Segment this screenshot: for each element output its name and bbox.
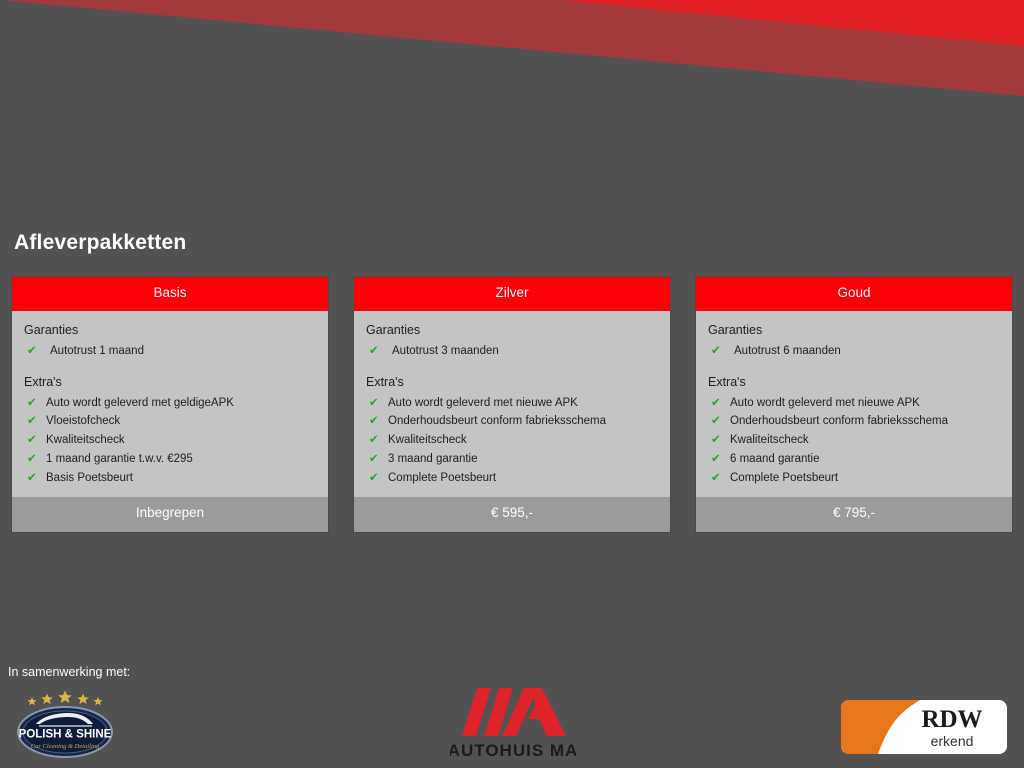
check-icon: ✔ bbox=[24, 395, 46, 413]
check-icon: ✔ bbox=[708, 395, 730, 413]
list-item: ✔ Auto wordt geleverd met geldigeAPK bbox=[24, 395, 316, 414]
check-icon: ✔ bbox=[708, 343, 732, 361]
list-item: ✔ Basis Poetsbeurt bbox=[24, 470, 316, 489]
stars-icon bbox=[28, 691, 103, 706]
logo-rdw-erkend: RDW erkend bbox=[840, 699, 1008, 755]
list-item: ✔ Autotrust 3 maanden bbox=[366, 343, 658, 362]
check-icon: ✔ bbox=[24, 451, 46, 469]
check-icon: ✔ bbox=[366, 413, 388, 431]
list-item-label: Complete Poetsbeurt bbox=[730, 470, 838, 488]
partners-label: In samenwerking met: bbox=[8, 665, 130, 679]
list-item-label: Autotrust 1 maand bbox=[48, 343, 144, 361]
package-card-basis[interactable]: Basis Garanties ✔ Autotrust 1 maand Extr… bbox=[12, 277, 328, 532]
extras-heading: Extra's bbox=[708, 375, 1000, 389]
package-card-goud[interactable]: Goud Garanties ✔ Autotrust 6 maanden Ext… bbox=[696, 277, 1012, 532]
list-item-label: Onderhoudsbeurt conform fabrieksschema bbox=[388, 413, 606, 431]
check-icon: ✔ bbox=[366, 395, 388, 413]
list-item: ✔ Auto wordt geleverd met nieuwe APK bbox=[366, 395, 658, 414]
autohuis-ma-mark: AUTOHUIS MA bbox=[450, 678, 576, 762]
list-item: ✔ 6 maand garantie bbox=[708, 451, 1000, 470]
list-item-label: Auto wordt geleverd met geldigeAPK bbox=[46, 395, 234, 413]
package-card-title: Goud bbox=[696, 277, 1012, 311]
list-item: ✔ Complete Poetsbeurt bbox=[366, 470, 658, 489]
logo-wordmark: POLISH & SHINE bbox=[19, 729, 112, 741]
list-item: ✔ Complete Poetsbeurt bbox=[708, 470, 1000, 489]
rdw-erkend-mark: RDW erkend bbox=[840, 699, 1008, 755]
list-item: ✔ Vloeistofcheck bbox=[24, 413, 316, 432]
package-price: Inbegrepen bbox=[12, 497, 328, 532]
check-icon: ✔ bbox=[24, 432, 46, 450]
list-item: ✔ Auto wordt geleverd met nieuwe APK bbox=[708, 395, 1000, 414]
list-item: ✔ Autotrust 6 maanden bbox=[708, 343, 1000, 362]
list-item-label: Auto wordt geleverd met nieuwe APK bbox=[730, 395, 920, 413]
list-item-label: Auto wordt geleverd met nieuwe APK bbox=[388, 395, 578, 413]
top-diagonal-banner bbox=[0, 0, 1024, 120]
extras-list: ✔ Auto wordt geleverd met nieuwe APK ✔ O… bbox=[708, 395, 1000, 489]
check-icon: ✔ bbox=[366, 451, 388, 469]
logo-autohuis-ma: AUTOHUIS MA bbox=[450, 678, 576, 762]
check-icon: ✔ bbox=[708, 470, 730, 488]
check-icon: ✔ bbox=[24, 470, 46, 488]
list-item-label: 6 maand garantie bbox=[730, 451, 820, 469]
package-card-title: Basis bbox=[12, 277, 328, 311]
list-item-label: Kwaliteitscheck bbox=[388, 432, 467, 450]
package-cards-row: Basis Garanties ✔ Autotrust 1 maand Extr… bbox=[12, 277, 1012, 532]
list-item-label: 3 maand garantie bbox=[388, 451, 478, 469]
list-item-label: 1 maand garantie t.w.v. €295 bbox=[46, 451, 193, 469]
package-card-title: Zilver bbox=[354, 277, 670, 311]
list-item-label: Kwaliteitscheck bbox=[46, 432, 125, 450]
guarantees-heading: Garanties bbox=[708, 323, 1000, 337]
list-item: ✔ Onderhoudsbeurt conform fabrieksschema bbox=[708, 413, 1000, 432]
list-item-label: Autotrust 3 maanden bbox=[390, 343, 499, 361]
polish-and-shine-mark: POLISH & SHINE Car Cleaning & Detailing bbox=[16, 686, 114, 760]
check-icon: ✔ bbox=[366, 432, 388, 450]
list-item: ✔ Kwaliteitscheck bbox=[24, 432, 316, 451]
extras-list: ✔ Auto wordt geleverd met geldigeAPK ✔ V… bbox=[24, 395, 316, 489]
package-card-body: Garanties ✔ Autotrust 1 maand Extra's ✔ … bbox=[12, 311, 328, 497]
check-icon: ✔ bbox=[708, 432, 730, 450]
ma-monogram-icon bbox=[462, 688, 566, 736]
logo-polish-and-shine: POLISH & SHINE Car Cleaning & Detailing bbox=[16, 686, 114, 760]
list-item-label: Complete Poetsbeurt bbox=[388, 470, 496, 488]
guarantees-list: ✔ Autotrust 1 maand bbox=[24, 343, 316, 362]
check-icon: ✔ bbox=[366, 343, 390, 361]
package-price: € 595,- bbox=[354, 497, 670, 532]
guarantees-heading: Garanties bbox=[24, 323, 316, 337]
package-card-body: Garanties ✔ Autotrust 6 maanden Extra's … bbox=[696, 311, 1012, 497]
check-icon: ✔ bbox=[366, 470, 388, 488]
rdw-wordmark: RDW bbox=[921, 706, 982, 733]
check-icon: ✔ bbox=[708, 451, 730, 469]
list-item: ✔ Kwaliteitscheck bbox=[708, 432, 1000, 451]
list-item-label: Autotrust 6 maanden bbox=[732, 343, 841, 361]
package-card-zilver[interactable]: Zilver Garanties ✔ Autotrust 3 maanden E… bbox=[354, 277, 670, 532]
logo-tagline: Car Cleaning & Detailing bbox=[31, 743, 100, 750]
guarantees-list: ✔ Autotrust 3 maanden bbox=[366, 343, 658, 362]
extras-list: ✔ Auto wordt geleverd met nieuwe APK ✔ O… bbox=[366, 395, 658, 489]
extras-heading: Extra's bbox=[366, 375, 658, 389]
list-item-label: Basis Poetsbeurt bbox=[46, 470, 133, 488]
check-icon: ✔ bbox=[24, 413, 46, 431]
package-card-body: Garanties ✔ Autotrust 3 maanden Extra's … bbox=[354, 311, 670, 497]
list-item: ✔ Autotrust 1 maand bbox=[24, 343, 316, 362]
guarantees-list: ✔ Autotrust 6 maanden bbox=[708, 343, 1000, 362]
list-item-label: Kwaliteitscheck bbox=[730, 432, 809, 450]
banner-stripes bbox=[0, 0, 1024, 120]
list-item-label: Onderhoudsbeurt conform fabrieksschema bbox=[730, 413, 948, 431]
check-icon: ✔ bbox=[708, 413, 730, 431]
list-item-label: Vloeistofcheck bbox=[46, 413, 120, 431]
package-price: € 795,- bbox=[696, 497, 1012, 532]
autohuis-wordmark: AUTOHUIS MA bbox=[450, 741, 576, 760]
rdw-subtitle: erkend bbox=[931, 733, 974, 749]
list-item: ✔ Onderhoudsbeurt conform fabrieksschema bbox=[366, 413, 658, 432]
list-item: ✔ 1 maand garantie t.w.v. €295 bbox=[24, 451, 316, 470]
page-title: Afleverpakketten bbox=[14, 231, 186, 255]
list-item: ✔ 3 maand garantie bbox=[366, 451, 658, 470]
check-icon: ✔ bbox=[24, 343, 48, 361]
guarantees-heading: Garanties bbox=[366, 323, 658, 337]
list-item: ✔ Kwaliteitscheck bbox=[366, 432, 658, 451]
extras-heading: Extra's bbox=[24, 375, 316, 389]
